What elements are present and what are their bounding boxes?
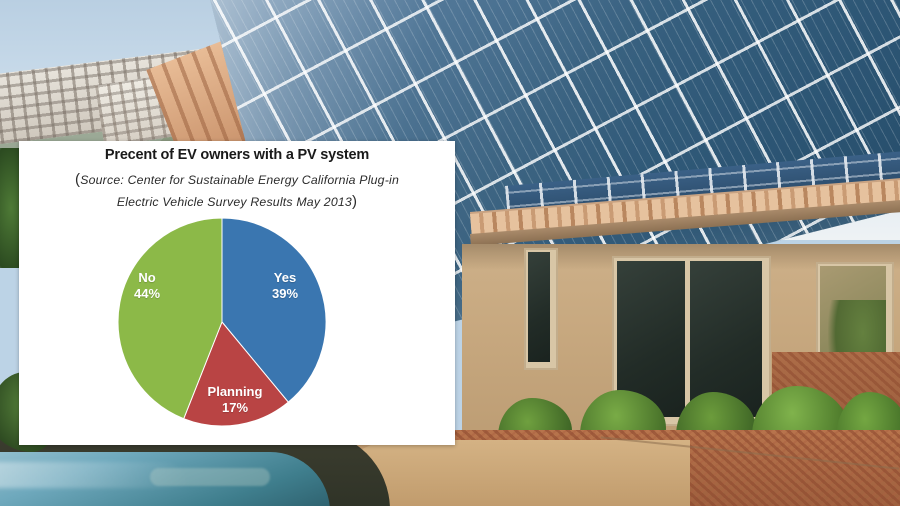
window-glass-narrow (528, 252, 550, 362)
pie-label-planning-name: Planning (208, 384, 263, 399)
pie-label-yes-name: Yes (274, 270, 296, 285)
pie-label-yes: Yes 39% (255, 270, 315, 302)
screenshot-root: Precent of EV owners with a PV system (S… (0, 0, 900, 506)
pie-label-no-name: No (138, 270, 155, 285)
pie-chart: Yes 39% Planning 17% No 44% (19, 141, 455, 445)
pie-label-no: No 44% (117, 270, 177, 302)
pie-label-planning-value: 17% (222, 400, 248, 415)
pool-step (150, 468, 270, 486)
pie-label-planning: Planning 17% (187, 384, 283, 416)
chart-card: Precent of EV owners with a PV system (S… (19, 141, 455, 445)
pie-label-yes-value: 39% (272, 286, 298, 301)
pie-label-no-value: 44% (134, 286, 160, 301)
